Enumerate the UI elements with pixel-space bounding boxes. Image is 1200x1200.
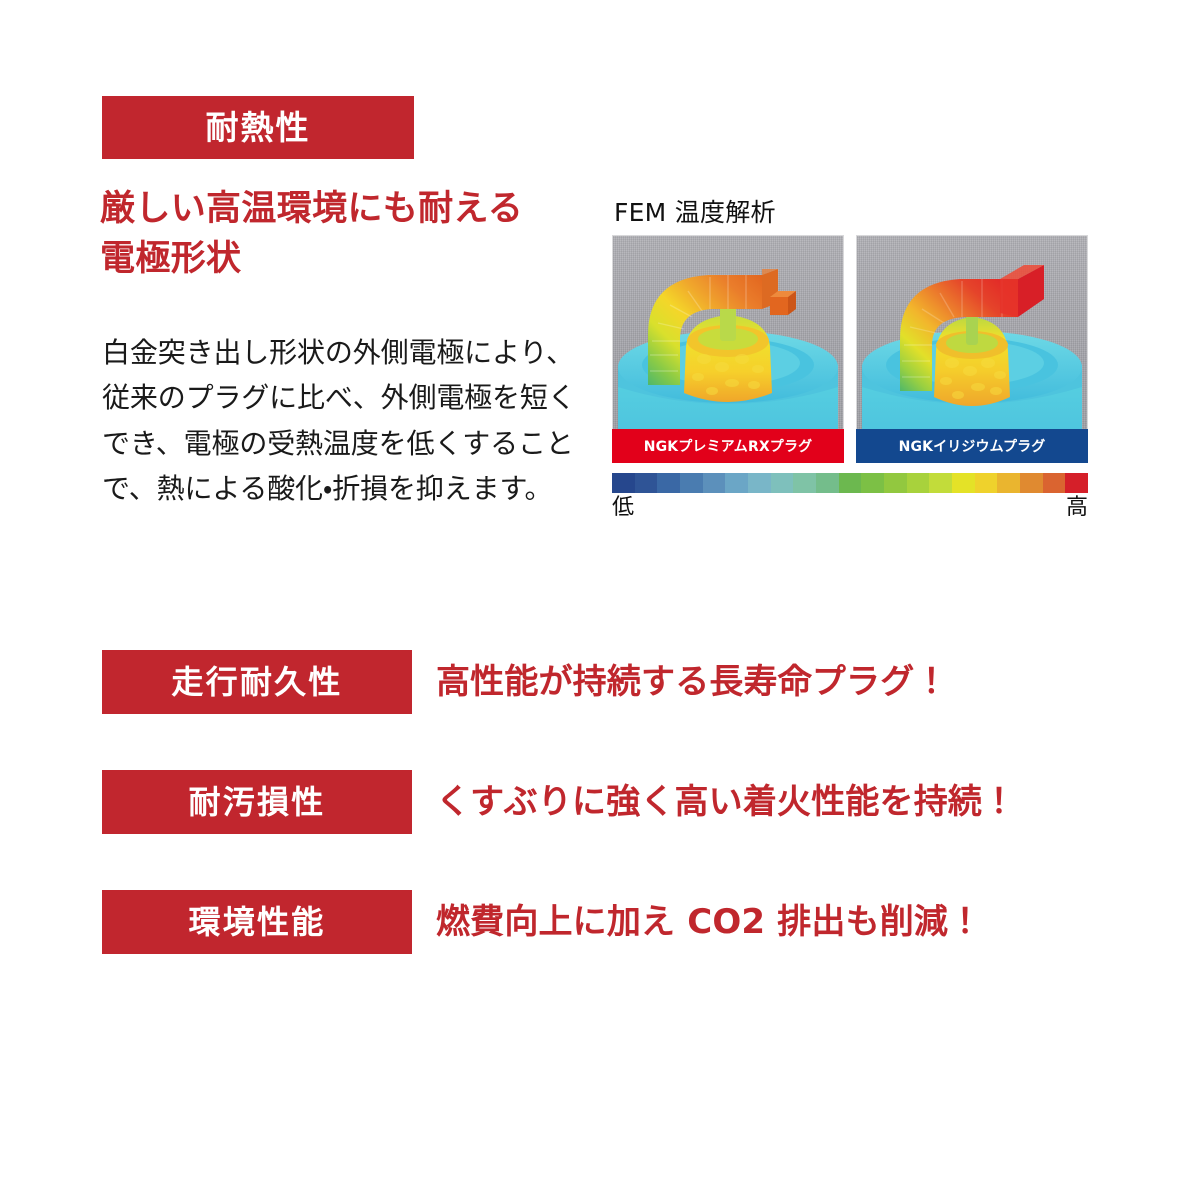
scale-band-5 [725, 473, 748, 493]
scale-band-7 [771, 473, 794, 493]
plug-label-premium-rx: NGKプレミアムRXプラグ [612, 429, 844, 463]
feature-text-environment: 燃費向上に加え CO2 排出も削減！ [436, 905, 982, 939]
scale-band-16 [975, 473, 998, 493]
body-line-4: で、熱による酸化・折損を抑えます。 [102, 466, 602, 511]
feature-row-environment: 環境性能 燃費向上に加え CO2 排出も削減！ [102, 890, 1062, 954]
feature-text-durability: 高性能が持続する長寿命プラグ！ [436, 665, 949, 699]
feature-row-durability: 走行耐久性 高性能が持続する長寿命プラグ！ [102, 650, 1062, 714]
heat-resistance-badge: 耐熱性 [102, 96, 414, 159]
scale-band-9 [816, 473, 839, 493]
feature-row-fouling: 耐汚損性 くすぶりに強く高い着火性能を持続！ [102, 770, 1062, 834]
feature-badge-durability-label: 走行耐久性 [171, 666, 342, 698]
scale-band-3 [680, 473, 703, 493]
scale-band-2 [657, 473, 680, 493]
scale-band-15 [952, 473, 975, 493]
fem-caption: FEM 温度解析 [614, 200, 1102, 225]
scale-band-4 [703, 473, 726, 493]
temperature-scale-labels: 低 高 [612, 496, 1088, 520]
feature-badge-fouling-label: 耐汚損性 [189, 786, 326, 818]
scale-band-13 [907, 473, 930, 493]
plug-label-iridium-text: NGKイリジウムプラグ [899, 436, 1046, 456]
plug-label-iridium: NGKイリジウムプラグ [856, 429, 1088, 463]
feature-badge-environment-label: 環境性能 [189, 906, 326, 938]
headline-line-1: 厳しい高温環境にも耐える [100, 185, 620, 235]
feature-badge-fouling: 耐汚損性 [102, 770, 412, 834]
headline-line-2: 電極形状 [100, 235, 620, 285]
scale-low-label: 低 [612, 496, 634, 520]
fem-panel-group: NGKプレミアムRXプラグ [612, 235, 1102, 463]
body-line-3: でき、電極の受熱温度を低くすること [102, 421, 602, 466]
scale-band-20 [1065, 473, 1088, 493]
scale-band-18 [1020, 473, 1043, 493]
feature-badge-durability: 走行耐久性 [102, 650, 412, 714]
fem-panel-premium-rx: NGKプレミアムRXプラグ [612, 235, 844, 463]
scale-band-17 [997, 473, 1020, 493]
scale-band-0 [612, 473, 635, 493]
scale-band-1 [635, 473, 658, 493]
temperature-scale: 低 高 [612, 473, 1088, 520]
fem-analysis-block: FEM 温度解析 [612, 200, 1102, 520]
body-line-2: 従来のプラグに比べ、外側電極を短く [102, 375, 602, 420]
scale-high-label: 高 [1066, 496, 1088, 520]
feature-badge-environment: 環境性能 [102, 890, 412, 954]
scale-band-6 [748, 473, 771, 493]
body-paragraph: 白金突き出し形状の外側電極により、 従来のプラグに比べ、外側電極を短く でき、電… [102, 330, 602, 511]
page-headline: 厳しい高温環境にも耐える 電極形状 [100, 185, 620, 284]
scale-band-19 [1043, 473, 1066, 493]
fem-panel-iridium: NGKイリジウムプラグ [856, 235, 1088, 463]
scale-band-11 [861, 473, 884, 493]
scale-band-10 [839, 473, 862, 493]
scale-band-8 [793, 473, 816, 493]
scale-band-14 [929, 473, 952, 493]
heat-resistance-badge-label: 耐熱性 [206, 111, 311, 144]
body-line-1: 白金突き出し形状の外側電極により、 [102, 330, 602, 375]
scale-band-12 [884, 473, 907, 493]
plug-label-premium-rx-text: NGKプレミアムRXプラグ [644, 436, 812, 456]
feature-text-fouling: くすぶりに強く高い着火性能を持続！ [436, 785, 1016, 819]
temperature-scale-bar [612, 473, 1088, 493]
